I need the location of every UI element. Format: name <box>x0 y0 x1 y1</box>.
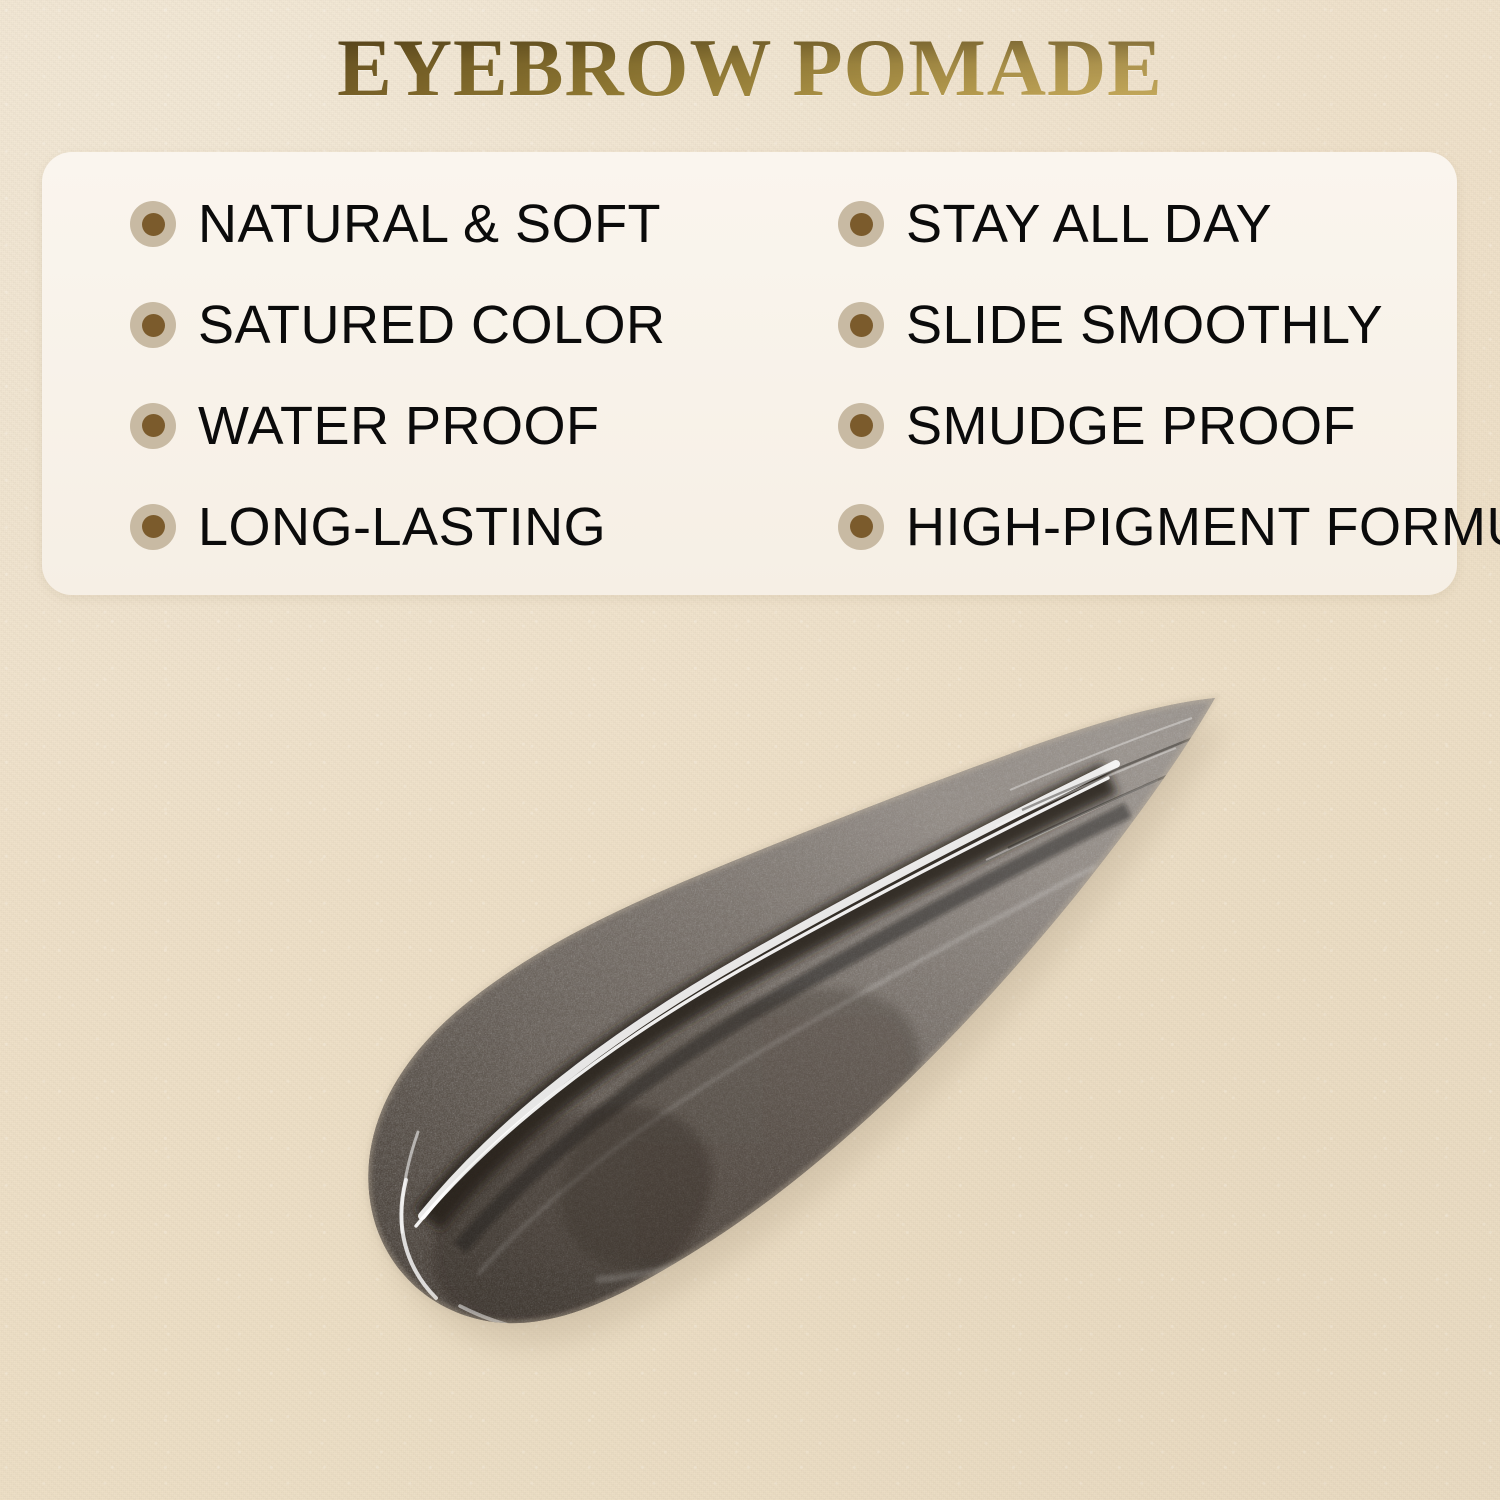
bullet-dot-icon <box>838 302 884 348</box>
bullet-dot-icon <box>838 201 884 247</box>
feature-label: SLIDE SMOOTHLY <box>906 298 1383 352</box>
page-title: EYEBROW POMADE <box>0 24 1500 113</box>
feature-item-smudge-proof: SMUDGE PROOF <box>750 376 1457 477</box>
feature-item-stay-all-day: STAY ALL DAY <box>750 174 1457 275</box>
feature-item-high-pigment-formula: HIGH-PIGMENT FORMULA <box>750 476 1457 577</box>
feature-item-slide-smoothly: SLIDE SMOOTHLY <box>750 275 1457 376</box>
features-grid: NATURAL & SOFT STAY ALL DAY SATURED COLO… <box>42 152 1457 595</box>
features-card: NATURAL & SOFT STAY ALL DAY SATURED COLO… <box>42 152 1457 595</box>
bullet-dot-icon <box>838 504 884 550</box>
feature-item-long-lasting: LONG-LASTING <box>42 476 750 577</box>
feature-label: SATURED COLOR <box>198 298 666 352</box>
feature-item-satured-color: SATURED COLOR <box>42 275 750 376</box>
pomade-smear-shape <box>310 660 1250 1460</box>
feature-label: STAY ALL DAY <box>906 197 1272 251</box>
feature-label: HIGH-PIGMENT FORMULA <box>906 500 1500 554</box>
bullet-dot-icon <box>130 504 176 550</box>
feature-label: SMUDGE PROOF <box>906 399 1356 453</box>
feature-label: LONG-LASTING <box>198 500 606 554</box>
pomade-smear-swatch <box>310 660 1250 1460</box>
bullet-dot-icon <box>130 403 176 449</box>
product-marketing-image: EYEBROW POMADE EYEBROW POMADE NATURAL & … <box>0 0 1500 1500</box>
product-swatch-area <box>250 620 1310 1500</box>
feature-item-water-proof: WATER PROOF <box>42 376 750 477</box>
bullet-dot-icon <box>838 403 884 449</box>
feature-label: NATURAL & SOFT <box>198 197 661 251</box>
bullet-dot-icon <box>130 302 176 348</box>
feature-item-natural-and-soft: NATURAL & SOFT <box>42 174 750 275</box>
feature-label: WATER PROOF <box>198 399 599 453</box>
bullet-dot-icon <box>130 201 176 247</box>
